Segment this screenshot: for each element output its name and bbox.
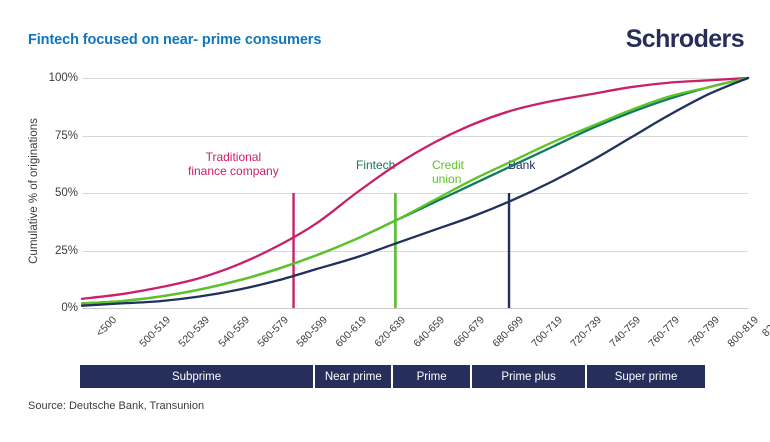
credit-band: Super prime (587, 365, 705, 388)
x-tick-label: 520-539 (177, 314, 213, 350)
series-line (82, 78, 748, 303)
credit-band: Subprime (80, 365, 313, 388)
y-tick-label: 100% (36, 72, 78, 84)
x-tick-label: 780-799 (686, 314, 722, 350)
source-note: Source: Deutsche Bank, Transunion (28, 400, 204, 412)
x-tick-label: 580-599 (294, 314, 330, 350)
series-label: Fintech (356, 158, 395, 172)
x-tick-label: 680-699 (490, 314, 526, 350)
series-line (82, 78, 748, 299)
x-tick-label: 640-659 (412, 314, 448, 350)
credit-band: Prime (393, 365, 469, 388)
y-tick-label: 0% (36, 302, 78, 314)
series-label: Creditunion (432, 158, 464, 186)
y-tick-label: 50% (36, 187, 78, 199)
schroders-logo: Schroders (626, 25, 744, 54)
x-tick-label: 600-619 (333, 314, 369, 350)
x-tick-label: 540-559 (216, 314, 252, 350)
series-label: Bank (508, 158, 535, 172)
x-tick-label: 760-779 (647, 314, 683, 350)
series-label: Traditionalfinance company (188, 150, 279, 178)
x-tick-label: 700-719 (529, 314, 565, 350)
chart-page: Fintech focused on near- prime consumers… (0, 0, 770, 442)
x-tick-label: 560-579 (255, 314, 291, 350)
y-tick-label: 25% (36, 245, 78, 257)
x-axis-line (82, 308, 748, 309)
x-tick-label: 800-819 (725, 314, 761, 350)
series-line (82, 78, 748, 303)
y-axis-ticks: 0%25%50%75%100% (32, 0, 78, 442)
y-tick-label: 75% (36, 130, 78, 142)
credit-band: Prime plus (472, 365, 586, 388)
gridline (82, 78, 748, 79)
x-tick-label: 660-679 (451, 314, 487, 350)
x-tick-label: 500-519 (137, 314, 173, 350)
x-tick-label: 720-739 (568, 314, 604, 350)
gridline (82, 251, 748, 252)
x-tick-label: 820+ (760, 314, 770, 339)
x-tick-label: 620-639 (373, 314, 409, 350)
x-tick-label: <500 (94, 314, 119, 339)
x-tick-label: 740-759 (608, 314, 644, 350)
credit-band: Near prime (315, 365, 391, 388)
gridline (82, 136, 748, 137)
gridline (82, 193, 748, 194)
series-line (82, 78, 748, 306)
